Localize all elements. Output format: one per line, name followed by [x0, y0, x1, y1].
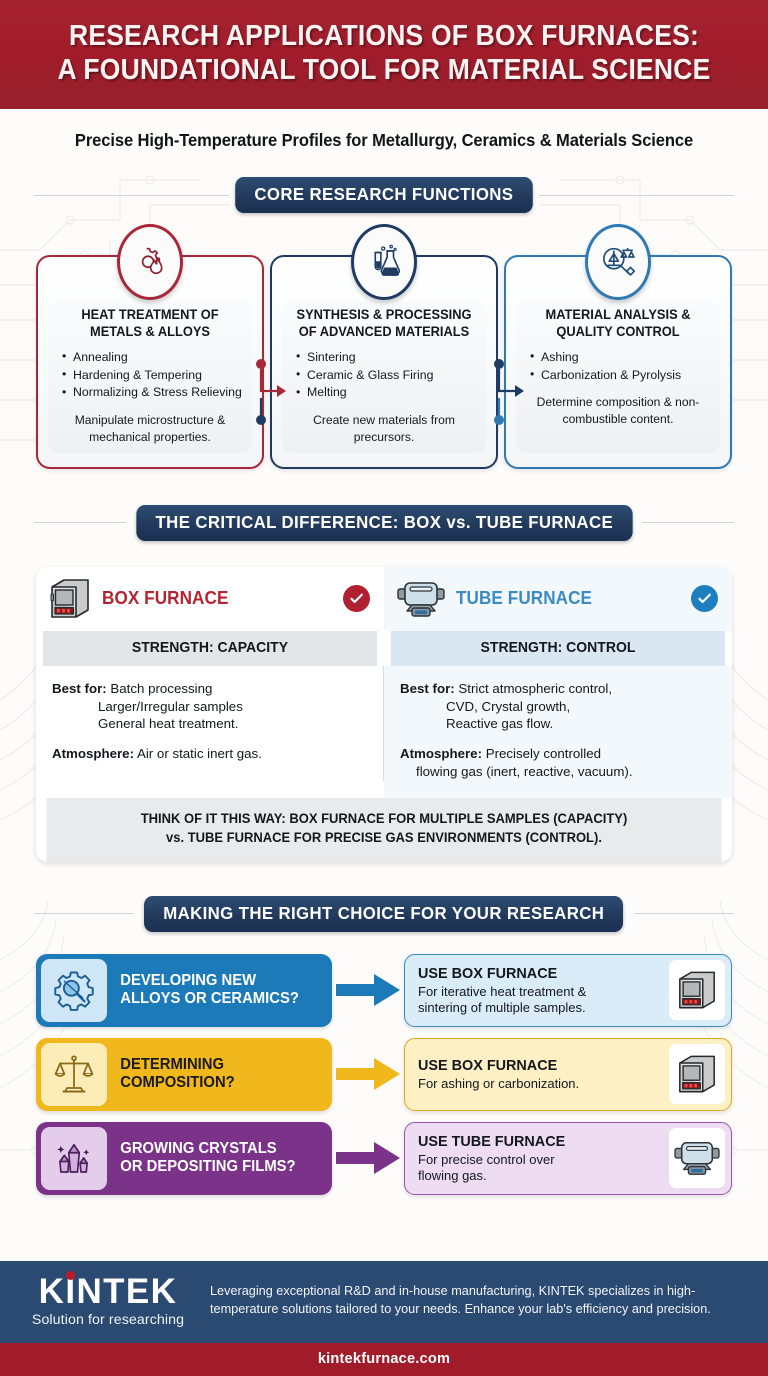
magnifier-scale-icon — [585, 224, 651, 300]
tube-best-for-line-2: CVD, Crystal growth, — [400, 698, 716, 716]
choice-rows: DEVELOPING NEW ALLOYS OR CERAMICS? USE B… — [36, 954, 732, 1195]
tube-furnace-header: TUBE FURNACE — [384, 567, 732, 631]
answer-title-alloys: USE BOX FURNACE — [418, 965, 653, 982]
list-item: Annealing — [62, 349, 246, 367]
core-card-bullets: Ashing Carbonization & Pyrolysis — [522, 349, 714, 385]
box-best-for-line-3: General heat treatment. — [52, 715, 367, 733]
box-furnace-icon — [669, 960, 725, 1020]
core-functions-row: HEAT TREATMENT OF METALS & ALLOYS Anneal… — [36, 255, 732, 469]
question-text-alloys: DEVELOPING NEW ALLOYS OR CERAMICS? — [107, 972, 308, 1009]
question-pill-crystals[interactable]: GROWING CRYSTALS OR DEPOSITING FILMS? — [36, 1122, 332, 1195]
page-subtitle: Precise High-Temperature Profiles for Me… — [19, 130, 749, 151]
comparison-col-tube: TUBE FURNACE — [384, 567, 732, 631]
list-item: Ashing — [530, 349, 714, 367]
choice-row-crystals: GROWING CRYSTALS OR DEPOSITING FILMS? US… — [36, 1122, 732, 1195]
question-line-2: COMPOSITION? — [120, 1074, 234, 1092]
logo-dot-icon — [66, 1271, 75, 1280]
list-item: Melting — [296, 384, 480, 402]
section-header-core: CORE RESEARCH FUNCTIONS — [34, 177, 734, 213]
box-atmosphere-line-1: Air or static inert gas. — [137, 746, 262, 761]
arrow-composition — [332, 1057, 404, 1091]
question-pill-composition[interactable]: DETERMINING COMPOSITION? — [36, 1038, 332, 1111]
comparison-header-row: BOX FURNACE — [36, 567, 732, 631]
footer-main-bar: KINTEK Solution for researching Leveragi… — [0, 1261, 768, 1343]
flask-test-tube-icon — [351, 224, 417, 300]
logo-wordmark: KINTEK — [24, 1274, 192, 1309]
gear-flame-icon — [117, 224, 183, 300]
footer-blurb-line-1: Leveraging exceptional R&D and in-house … — [210, 1283, 744, 1301]
tube-furnace-title: TUBE FURNACE — [456, 588, 670, 609]
page-title: RESEARCH APPLICATIONS OF BOX FURNACES: A… — [44, 20, 725, 87]
question-line-1: DETERMINING — [120, 1056, 234, 1074]
answer-desc-line-1: For iterative heat treatment & — [418, 984, 663, 1000]
question-line-1: GROWING CRYSTALS — [120, 1140, 295, 1158]
question-line-2: ALLOYS OR CERAMICS? — [120, 990, 299, 1008]
box-furnace-icon — [669, 1044, 725, 1104]
tube-furnace-icon — [669, 1128, 725, 1188]
core-card-bullets: Sintering Ceramic & Glass Firing Melting — [288, 349, 480, 402]
question-text-crystals: GROWING CRYSTALS OR DEPOSITING FILMS? — [107, 1140, 305, 1177]
footer: KINTEK Solution for researching Leveragi… — [0, 1261, 768, 1376]
core-card-synthesis[interactable]: SYNTHESIS & PROCESSING OF ADVANCED MATER… — [270, 255, 498, 469]
answer-desc-line-2: flowing gas. — [418, 1168, 663, 1184]
core-card-summary: Manipulate microstructure & mechanical p… — [54, 412, 246, 445]
footer-blurb: Leveraging exceptional R&D and in-house … — [210, 1283, 744, 1318]
box-best-for: Best for: Batch processing Larger/Irregu… — [52, 680, 367, 733]
list-item: Normalizing & Stress Relieving — [62, 384, 246, 402]
answer-title-crystals: USE TUBE FURNACE — [418, 1133, 653, 1150]
core-card-summary: Create new materials from precursors. — [288, 412, 480, 445]
tube-atmosphere-label: Atmosphere: — [400, 746, 482, 761]
gear-search-icon — [41, 959, 107, 1022]
box-best-for-line-1: Batch processing — [110, 681, 212, 696]
tube-atmosphere-line-1: Precisely controlled — [486, 746, 601, 761]
comparison-col-box: BOX FURNACE — [36, 567, 384, 631]
tube-furnace-icon — [396, 577, 446, 621]
question-text-composition: DETERMINING COMPOSITION? — [107, 1056, 244, 1093]
core-card-bullets: Annealing Hardening & Tempering Normaliz… — [54, 349, 246, 402]
tube-best-for: Best for: Strict atmospheric control, CV… — [400, 680, 716, 733]
question-pill-alloys[interactable]: DEVELOPING NEW ALLOYS OR CERAMICS? — [36, 954, 332, 1027]
answer-desc-line-1: For ashing or carbonization. — [418, 1076, 663, 1092]
answer-card-crystals[interactable]: USE TUBE FURNACE For precise control ove… — [404, 1122, 732, 1195]
comparison-summary-line-1: THINK OF IT THIS WAY: BOX FURNACE FOR MU… — [60, 810, 708, 829]
tube-best-for-line-3: Reactive gas flow. — [400, 715, 716, 733]
tube-best-for-line-1: Strict atmospheric control, — [458, 681, 612, 696]
section-header-difference: THE CRITICAL DIFFERENCE: BOX vs. TUBE FU… — [34, 505, 734, 541]
choice-row-alloys: DEVELOPING NEW ALLOYS OR CERAMICS? USE B… — [36, 954, 732, 1027]
rule-right — [539, 195, 734, 196]
question-line-2: OR DEPOSITING FILMS? — [120, 1158, 295, 1176]
crystals-icon — [41, 1127, 107, 1190]
choice-row-composition: DETERMINING COMPOSITION? USE BOX FURNACE… — [36, 1038, 732, 1111]
box-details: Best for: Batch processing Larger/Irregu… — [36, 666, 384, 781]
arrow-alloys — [332, 973, 404, 1007]
list-item: Ceramic & Glass Firing — [296, 367, 480, 385]
infographic-page: RESEARCH APPLICATIONS OF BOX FURNACES: A… — [0, 0, 768, 1376]
core-card-title: SYNTHESIS & PROCESSING OF ADVANCED MATER… — [292, 307, 476, 341]
rule-left — [34, 195, 229, 196]
arrow-crystals — [332, 1141, 404, 1175]
answer-desc-line-2: sintering of multiple samples. — [418, 1000, 663, 1016]
core-card-body: MATERIAL ANALYSIS & QUALITY CONTROL Ashi… — [516, 301, 720, 453]
section-badge-choice: MAKING THE RIGHT CHOICE FOR YOUR RESEARC… — [144, 896, 623, 932]
check-circle-blue-icon — [691, 585, 718, 612]
comparison-summary-line-2: vs. TUBE FURNACE FOR PRECISE GAS ENVIRON… — [60, 829, 708, 848]
core-card-analysis[interactable]: MATERIAL ANALYSIS & QUALITY CONTROL Ashi… — [504, 255, 732, 469]
core-card-summary: Determine composition & non-combustible … — [522, 394, 714, 427]
box-atmosphere-label: Atmosphere: — [52, 746, 134, 761]
core-card-body: HEAT TREATMENT OF METALS & ALLOYS Anneal… — [48, 301, 252, 453]
rule-left — [34, 913, 134, 914]
list-item: Sintering — [296, 349, 480, 367]
page-title-line-1: RESEARCH APPLICATIONS OF BOX FURNACES: — [44, 20, 725, 54]
logo-tagline: Solution for researching — [24, 1312, 192, 1328]
answer-card-composition[interactable]: USE BOX FURNACE For ashing or carbonizat… — [404, 1038, 732, 1111]
core-card-title: MATERIAL ANALYSIS & QUALITY CONTROL — [526, 307, 710, 341]
section-badge-core: CORE RESEARCH FUNCTIONS — [235, 177, 532, 213]
question-line-1: DEVELOPING NEW — [120, 972, 299, 990]
answer-title-composition: USE BOX FURNACE — [418, 1057, 653, 1074]
core-card-body: SYNTHESIS & PROCESSING OF ADVANCED MATER… — [282, 301, 486, 453]
comparison-table: BOX FURNACE — [36, 567, 732, 862]
answer-card-alloys[interactable]: USE BOX FURNACE For iterative heat treat… — [404, 954, 732, 1027]
answer-desc-line-1: For precise control over — [418, 1152, 663, 1168]
comparison-strength-row: STRENGTH: CAPACITY STRENGTH: CONTROL — [36, 631, 732, 666]
footer-website-url[interactable]: kintekfurnace.com — [0, 1343, 768, 1376]
check-circle-red-icon — [343, 585, 370, 612]
core-card-heat-treatment[interactable]: HEAT TREATMENT OF METALS & ALLOYS Anneal… — [36, 255, 264, 469]
box-furnace-header: BOX FURNACE — [36, 567, 384, 631]
rule-right — [642, 522, 734, 523]
tube-best-for-label: Best for: — [400, 681, 455, 696]
list-item: Carbonization & Pyrolysis — [530, 367, 714, 385]
box-atmosphere: Atmosphere: Air or static inert gas. — [52, 745, 367, 763]
list-item: Hardening & Tempering — [62, 367, 246, 385]
balance-scale-icon — [41, 1043, 107, 1106]
comparison-detail-row: Best for: Batch processing Larger/Irregu… — [36, 666, 732, 798]
box-strength-label: STRENGTH: CAPACITY — [43, 631, 377, 666]
tube-details: Best for: Strict atmospheric control, CV… — [384, 666, 732, 798]
box-best-for-line-2: Larger/Irregular samples — [52, 698, 367, 716]
tube-strength-label: STRENGTH: CONTROL — [391, 631, 725, 666]
box-furnace-title: BOX FURNACE — [102, 588, 321, 609]
rule-left — [34, 522, 126, 523]
core-card-title: HEAT TREATMENT OF METALS & ALLOYS — [58, 307, 242, 341]
section-header-choice: MAKING THE RIGHT CHOICE FOR YOUR RESEARC… — [34, 896, 734, 932]
tube-atmosphere-line-2: flowing gas (inert, reactive, vacuum). — [400, 763, 716, 781]
comparison-summary: THINK OF IT THIS WAY: BOX FURNACE FOR MU… — [46, 798, 721, 862]
section-badge-difference: THE CRITICAL DIFFERENCE: BOX vs. TUBE FU… — [136, 505, 632, 541]
footer-blurb-line-2: temperature solutions tailored to your n… — [210, 1301, 744, 1319]
brand-logo: KINTEK Solution for researching — [24, 1274, 192, 1328]
page-title-line-2: A FOUNDATIONAL TOOL FOR MATERIAL SCIENCE — [44, 54, 725, 88]
header-banner: RESEARCH APPLICATIONS OF BOX FURNACES: A… — [0, 0, 768, 109]
box-best-for-label: Best for: — [52, 681, 107, 696]
tube-atmosphere: Atmosphere: Precisely controlled flowing… — [400, 745, 716, 780]
rule-right — [634, 913, 734, 914]
box-furnace-icon — [48, 576, 92, 622]
footer-notch — [0, 1248, 768, 1262]
